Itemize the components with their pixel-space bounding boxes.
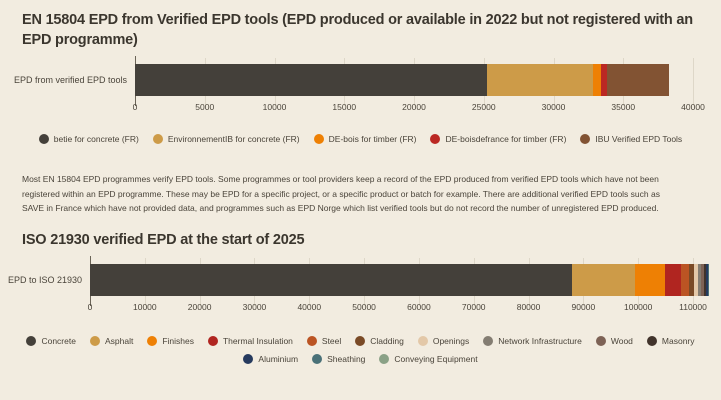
- legend-item[interactable]: DE-boisdefrance for timber (FR): [430, 134, 566, 144]
- legend-label: Aluminium: [258, 354, 298, 364]
- legend-item[interactable]: Conveying Equipment: [379, 354, 477, 364]
- bar-segment[interactable]: [487, 64, 593, 96]
- legend-swatch-icon: [647, 336, 657, 346]
- x-tick-label: 25000: [472, 102, 496, 112]
- paragraph-line: Most EN 15804 EPD programmes verify EPD …: [22, 172, 694, 187]
- x-tick-label: 35000: [611, 102, 635, 112]
- x-tick-label: 20000: [402, 102, 426, 112]
- chart2-plot-row: EPD to ISO 21930: [0, 262, 721, 298]
- x-tick-label: 50000: [352, 302, 376, 312]
- bar-segment[interactable]: [681, 264, 689, 296]
- legend-item[interactable]: Masonry: [647, 336, 695, 346]
- x-tick-label: 30000: [542, 102, 566, 112]
- x-tick-label: 10000: [133, 302, 157, 312]
- legend-item[interactable]: IBU Verified EPD Tools: [580, 134, 682, 144]
- legend-item[interactable]: Network Infrastructure: [483, 336, 582, 346]
- bar-segment[interactable]: [635, 264, 665, 296]
- paragraph-line: registered within an EPD programme. Thes…: [22, 187, 694, 202]
- chart2-plot-area: [90, 262, 693, 298]
- legend-swatch-icon: [26, 336, 36, 346]
- legend-swatch-icon: [379, 354, 389, 364]
- legend-label: betie for concrete (FR): [54, 134, 139, 144]
- legend-item[interactable]: Steel: [307, 336, 341, 346]
- legend-item[interactable]: Cladding: [355, 336, 404, 346]
- x-tick-label: 20000: [188, 302, 212, 312]
- x-tick-label: 0: [88, 302, 93, 312]
- legend-label: DE-boisdefrance for timber (FR): [445, 134, 566, 144]
- bar-segment[interactable]: [572, 264, 635, 296]
- legend-swatch-icon: [483, 336, 493, 346]
- legend-item[interactable]: Thermal Insulation: [208, 336, 293, 346]
- chart-iso21930-verified-epd: EPD to ISO 21930 01000020000300004000050…: [0, 262, 721, 324]
- chart1-axis-row: 0500010000150002000025000300003500040000: [0, 98, 721, 114]
- chart2-stacked-bar[interactable]: [90, 264, 709, 296]
- legend-label: Openings: [433, 336, 469, 346]
- x-tick-label: 40000: [297, 302, 321, 312]
- legend-label: Masonry: [662, 336, 695, 346]
- bar-segment[interactable]: [135, 64, 487, 96]
- chart2-axis-area: 0100002000030000400005000060000700008000…: [90, 298, 693, 314]
- x-tick-label: 70000: [462, 302, 486, 312]
- x-tick-label: 100000: [624, 302, 652, 312]
- chart1-stacked-bar[interactable]: [135, 64, 669, 96]
- legend-item[interactable]: Asphalt: [90, 336, 133, 346]
- legend-swatch-icon: [153, 134, 163, 144]
- legend-label: Sheathing: [327, 354, 365, 364]
- paragraph-line: SAVE in France which have not provided d…: [22, 201, 694, 216]
- chart2-legend: ConcreteAsphaltFinishesThermal Insulatio…: [0, 336, 721, 364]
- legend-swatch-icon: [418, 336, 428, 346]
- legend-swatch-icon: [314, 134, 324, 144]
- chart1-legend: betie for concrete (FR)EnvironnementIB f…: [0, 134, 721, 144]
- legend-swatch-icon: [39, 134, 49, 144]
- page-title-iso21930: ISO 21930 verified EPD at the start of 2…: [22, 230, 304, 250]
- x-tick-label: 30000: [243, 302, 267, 312]
- x-tick-label: 10000: [263, 102, 287, 112]
- chart-en15804-verified-tools: EPD from verified EPD tools 050001000015…: [0, 62, 721, 124]
- bar-segment[interactable]: [90, 264, 572, 296]
- legend-label: Conveying Equipment: [394, 354, 477, 364]
- legend-label: DE-bois for timber (FR): [329, 134, 417, 144]
- legend-item[interactable]: Concrete: [26, 336, 76, 346]
- legend-item[interactable]: DE-bois for timber (FR): [314, 134, 417, 144]
- legend-label: Concrete: [41, 336, 76, 346]
- chart2-category-label: EPD to ISO 21930: [0, 262, 90, 298]
- legend-label: Wood: [611, 336, 633, 346]
- legend-item[interactable]: EnvironnementIB for concrete (FR): [153, 134, 300, 144]
- chart2-x-axis-ticks: 0100002000030000400005000060000700008000…: [90, 300, 693, 316]
- x-tick-label: 15000: [332, 102, 356, 112]
- legend-swatch-icon: [147, 336, 157, 346]
- legend-swatch-icon: [243, 354, 253, 364]
- x-tick-label: 0: [133, 102, 138, 112]
- x-tick-label: 110000: [679, 302, 707, 312]
- legend-label: Asphalt: [105, 336, 133, 346]
- legend-label: Finishes: [162, 336, 194, 346]
- chart2-axis-row: 0100002000030000400005000060000700008000…: [0, 298, 721, 314]
- legend-swatch-icon: [596, 336, 606, 346]
- legend-swatch-icon: [307, 336, 317, 346]
- page-title-en15804: EN 15804 EPD from Verified EPD tools (EP…: [22, 10, 702, 50]
- bar-segment[interactable]: [593, 64, 601, 96]
- legend-item[interactable]: betie for concrete (FR): [39, 134, 139, 144]
- legend-item[interactable]: Aluminium: [243, 354, 298, 364]
- chart1-plot-area: [135, 62, 693, 98]
- legend-label: EnvironnementIB for concrete (FR): [168, 134, 300, 144]
- legend-item[interactable]: Finishes: [147, 336, 194, 346]
- legend-swatch-icon: [208, 336, 218, 346]
- chart1-category-label: EPD from verified EPD tools: [0, 62, 135, 98]
- x-tick-label: 60000: [407, 302, 431, 312]
- legend-label: IBU Verified EPD Tools: [595, 134, 682, 144]
- legend-swatch-icon: [430, 134, 440, 144]
- legend-label: Cladding: [370, 336, 404, 346]
- x-tick-label: 80000: [517, 302, 541, 312]
- bar-segment[interactable]: [607, 64, 669, 96]
- bar-segment[interactable]: [709, 264, 710, 296]
- chart1-axis-area: 0500010000150002000025000300003500040000: [135, 98, 693, 114]
- legend-swatch-icon: [312, 354, 322, 364]
- legend-label: Thermal Insulation: [223, 336, 293, 346]
- x-tick-label: 40000: [681, 102, 705, 112]
- x-tick-label: 90000: [572, 302, 596, 312]
- x-tick-label: 5000: [195, 102, 214, 112]
- legend-swatch-icon: [580, 134, 590, 144]
- explanatory-paragraph: Most EN 15804 EPD programmes verify EPD …: [22, 172, 694, 216]
- legend-swatch-icon: [355, 336, 365, 346]
- legend-item[interactable]: Sheathing: [312, 354, 365, 364]
- legend-swatch-icon: [90, 336, 100, 346]
- legend-item[interactable]: Openings: [418, 336, 469, 346]
- legend-item[interactable]: Wood: [596, 336, 633, 346]
- chart-plot-row: EPD from verified EPD tools: [0, 62, 721, 98]
- legend-label: Steel: [322, 336, 341, 346]
- chart1-x-axis-ticks: 0500010000150002000025000300003500040000: [135, 100, 693, 116]
- bar-segment[interactable]: [665, 264, 681, 296]
- legend-label: Network Infrastructure: [498, 336, 582, 346]
